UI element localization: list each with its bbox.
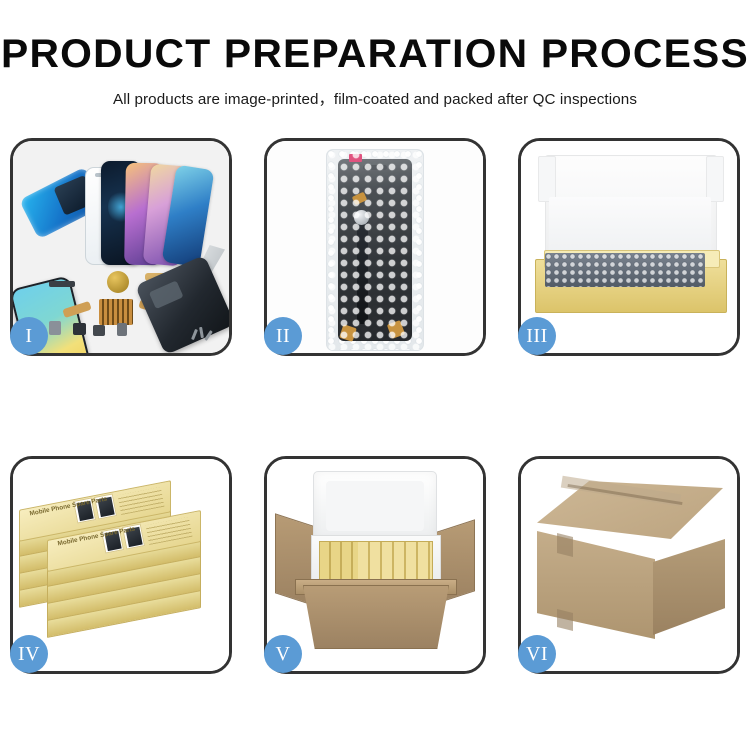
process-row-1: I xyxy=(10,138,740,362)
flex-cable-icon xyxy=(357,216,368,324)
bubble-wrap-scene xyxy=(267,141,483,353)
process-row-2: Mobile Phone Spare Parts Mobile Phone Sp… xyxy=(10,456,740,680)
step-badge-6: VI xyxy=(518,635,556,673)
small-component-icon xyxy=(93,325,105,336)
battery-part-icon xyxy=(117,323,127,336)
step-card-3[interactable]: III xyxy=(518,138,740,356)
phone-fan-group xyxy=(85,153,225,265)
box-stack-scene: Mobile Phone Spare Parts Mobile Phone Sp… xyxy=(13,459,229,671)
parts-scene xyxy=(13,141,229,353)
page-header: PRODUCT PREPARATION PROCESS All products… xyxy=(0,0,750,109)
carton-tab-icon xyxy=(557,533,573,557)
connector-grid-icon xyxy=(99,299,133,325)
vibrator-coil-icon xyxy=(107,271,129,293)
step-image-4: Mobile Phone Spare Parts Mobile Phone Sp… xyxy=(13,459,229,671)
speaker-part-icon xyxy=(49,281,75,287)
step-badge-2: II xyxy=(264,317,302,355)
step-image-5 xyxy=(267,459,483,671)
carton-tab-icon xyxy=(557,609,573,631)
page-subtitle: All products are image-printed，film-coat… xyxy=(0,87,750,109)
step-image-6 xyxy=(521,459,737,671)
step-badge-3: III xyxy=(518,317,556,355)
page-title: PRODUCT PREPARATION PROCESS xyxy=(0,34,750,74)
carton-body-icon xyxy=(303,585,449,649)
step-card-1[interactable]: I xyxy=(10,138,232,356)
step-badge-4: IV xyxy=(10,635,48,673)
carton-side-face-icon xyxy=(653,539,725,635)
lcd-screen-icon xyxy=(338,159,412,341)
camera-module-icon xyxy=(354,210,369,225)
yellow-boxes-inside-icon xyxy=(319,541,433,583)
screws-icon xyxy=(191,325,215,343)
step-image-3 xyxy=(521,141,737,353)
step-card-5[interactable]: V xyxy=(264,456,486,674)
step-card-2[interactable]: II xyxy=(264,138,486,356)
step-image-2 xyxy=(267,141,483,353)
small-component-icon xyxy=(49,321,61,335)
process-steps-grid: I xyxy=(10,138,740,680)
pink-sticker-icon xyxy=(349,154,362,162)
product-preparation-process-page: PRODUCT PREPARATION PROCESS All products… xyxy=(0,0,750,750)
step-card-6[interactable]: VI xyxy=(518,456,740,674)
step-badge-5: V xyxy=(264,635,302,673)
carton-front-face-icon xyxy=(537,531,655,639)
flex-cable-icon xyxy=(62,301,91,318)
yellow-box-stack: Mobile Phone Spare Parts Mobile Phone Sp… xyxy=(17,477,229,655)
carton-loading-scene xyxy=(267,459,483,671)
inner-box-scene xyxy=(521,141,737,353)
small-component-icon xyxy=(73,323,86,335)
step-card-4[interactable]: Mobile Phone Spare Parts Mobile Phone Sp… xyxy=(10,456,232,674)
foam-lid-icon xyxy=(313,471,437,541)
bubble-wrap-bag-icon xyxy=(326,149,424,351)
step-badge-1: I xyxy=(10,317,48,355)
bubble-wrapped-contents-icon xyxy=(545,253,705,287)
sealed-carton-scene xyxy=(521,459,737,671)
step-image-1 xyxy=(13,141,229,353)
